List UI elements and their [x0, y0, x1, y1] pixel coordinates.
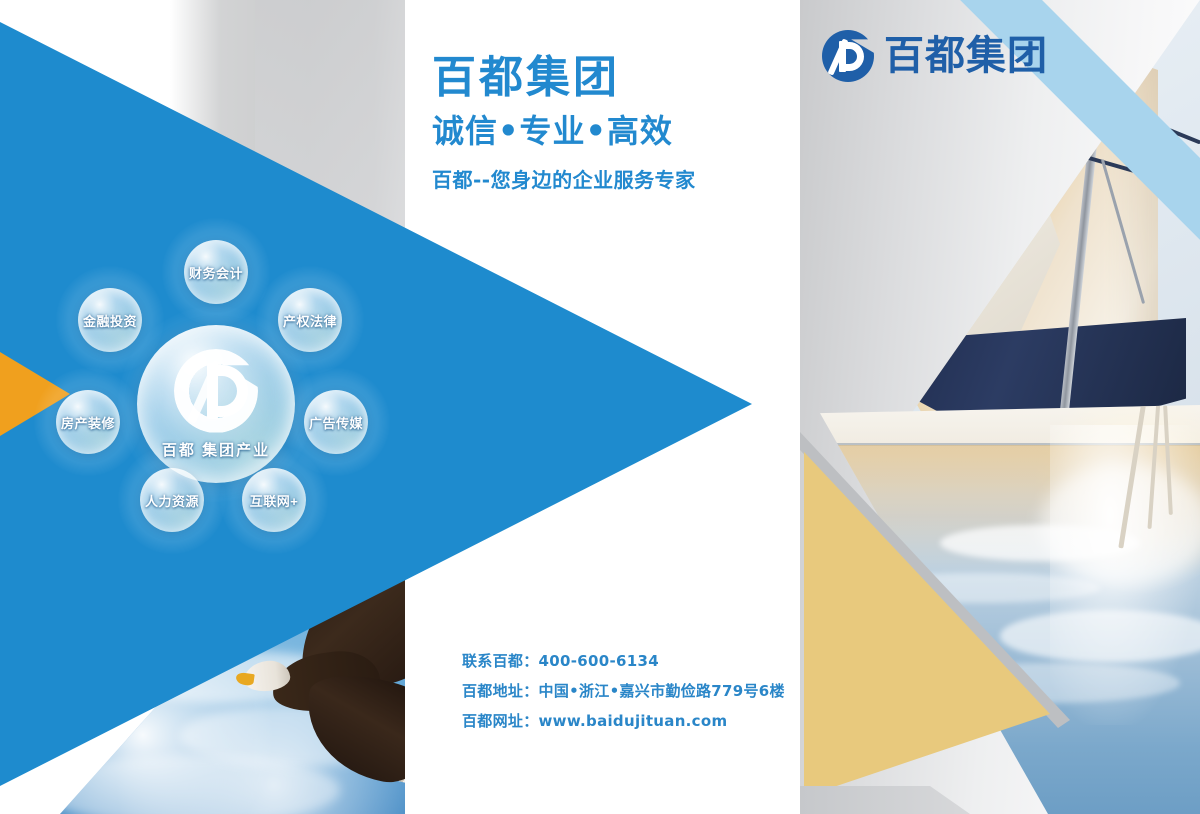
- contact-block: 联系百都：400-600-6134 百都地址：中国•浙江•嘉兴市勤俭路779号6…: [462, 650, 785, 740]
- d-emblem-icon: [174, 349, 258, 433]
- headline-block: 百都集团 诚信•专业•高效 百都--您身边的企业服务专家: [432, 52, 696, 193]
- bubble-node-finance-accounting[interactable]: 财务会计: [184, 240, 248, 304]
- bubble-center[interactable]: 百都 集团产业: [137, 325, 295, 483]
- bubble-label: 人力资源: [145, 491, 199, 510]
- contact-phone-value: 400-600-6134: [539, 652, 659, 670]
- logo-mark-icon: [822, 30, 874, 82]
- contact-phone-label: 联系百都：: [462, 652, 539, 670]
- sea-spray: [1050, 425, 1200, 725]
- company-logo[interactable]: 百都集团: [822, 30, 1048, 82]
- contact-website-line: 百都网址：www.baidujituan.com: [462, 710, 785, 731]
- headline-subtitle: 诚信•专业•高效: [432, 112, 696, 150]
- bubble-node-internet-plus[interactable]: 互联网+: [242, 468, 306, 532]
- contact-address-value: 中国•浙江•嘉兴市勤俭路779号6楼: [539, 682, 785, 700]
- bubble-label: 房产装修: [61, 413, 115, 432]
- bubble-label: 广告传媒: [309, 413, 363, 432]
- bubble-node-advertising-media[interactable]: 广告传媒: [304, 390, 368, 454]
- bubble-node-real-estate-decoration[interactable]: 房产装修: [56, 390, 120, 454]
- bubble-label: 产权法律: [283, 311, 337, 330]
- bubble-node-finance-investment[interactable]: 金融投资: [78, 288, 142, 352]
- bubble-node-ip-law[interactable]: 产权法律: [278, 288, 342, 352]
- bubble-node-human-resources[interactable]: 人力资源: [140, 468, 204, 532]
- bubble-label: 互联网+: [250, 491, 299, 510]
- contact-phone-line: 联系百都：400-600-6134: [462, 650, 785, 671]
- eagle-beak: [235, 672, 254, 686]
- headline-tagline: 百都--您身边的企业服务专家: [432, 164, 696, 193]
- contact-website-value[interactable]: www.baidujituan.com: [539, 712, 728, 730]
- logo-wordmark: 百都集团: [884, 36, 1048, 76]
- bubble-label: 财务会计: [189, 263, 243, 282]
- bubble-label: 金融投资: [83, 311, 137, 330]
- eagle-left-wing: [296, 668, 405, 790]
- brochure-page: 百都 集团产业 财务会计 产权法律 广告传媒 互联网+ 人力资源 房产装修 金融…: [0, 0, 1200, 814]
- contact-address-label: 百都地址：: [462, 682, 539, 700]
- industry-bubble-diagram: 百都 集团产业 财务会计 产权法律 广告传媒 互联网+ 人力资源 房产装修 金融…: [40, 218, 390, 540]
- left-panel-back-cover: 百都 集团产业 财务会计 产权法律 广告传媒 互联网+ 人力资源 房产装修 金融…: [0, 0, 800, 814]
- right-panel-front-cover: 百都集团: [800, 0, 1200, 814]
- page-title: 百都集团: [432, 52, 696, 104]
- bubble-center-label: 百都 集团产业: [162, 439, 270, 460]
- contact-address-line: 百都地址：中国•浙江•嘉兴市勤俭路779号6楼: [462, 680, 785, 701]
- contact-website-label: 百都网址：: [462, 712, 539, 730]
